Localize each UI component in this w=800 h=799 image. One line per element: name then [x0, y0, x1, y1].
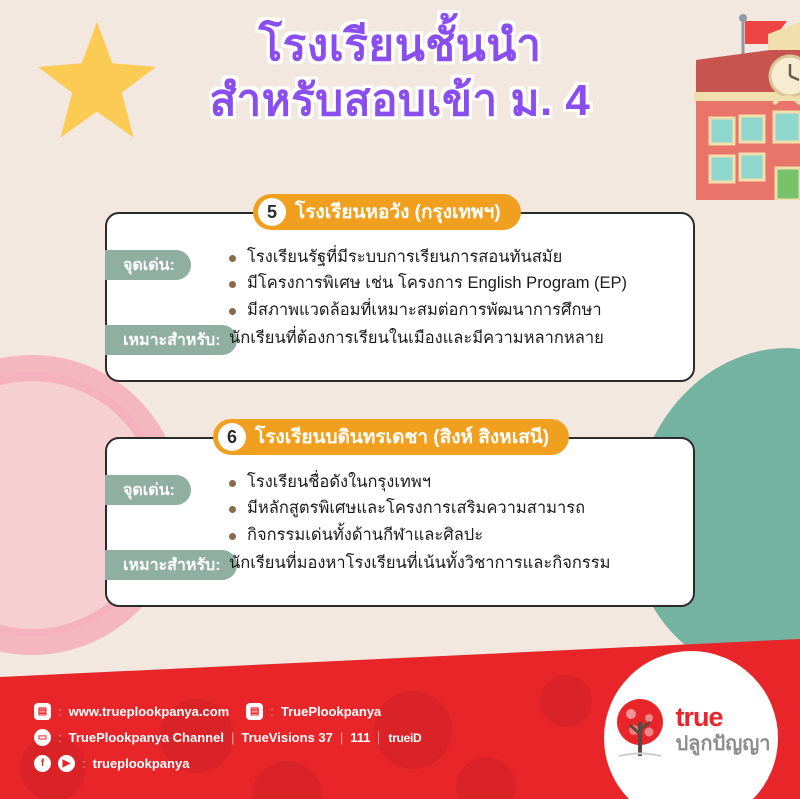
- highlight-bullet-list: โรงเรียนชื่อดังในกรุงเทพฯ มีหลักสูตรพิเศ…: [229, 471, 585, 550]
- bullet-dot-icon: [229, 506, 236, 513]
- contact-info: ▤ : www.trueplookpanya.com ▤ : TruePlook…: [34, 703, 421, 781]
- page-name[interactable]: TruePlookpanya: [281, 704, 381, 719]
- website-url[interactable]: www.trueplookpanya.com: [69, 704, 230, 719]
- bullet-dot-icon: [229, 281, 236, 288]
- list-item: มีสภาพแวดล้อมที่เหมาะสมต่อการพัฒนาการศึก…: [229, 299, 627, 322]
- page-title: โรงเรียนชั้นนำ สำหรับสอบเข้า ม. 4: [0, 18, 800, 128]
- title-line-1: โรงเรียนชั้นนำ: [258, 21, 541, 70]
- card-header-pill: 5 โรงเรียนหอวัง (กรุงเทพฯ): [253, 194, 521, 230]
- watermark-circle: [540, 675, 592, 727]
- suited-label-tag: เหมาะสำหรับ:: [105, 325, 237, 355]
- watermark-circle: [456, 757, 516, 799]
- book-icon: ▤: [34, 703, 51, 720]
- page-icon: ▤: [246, 703, 263, 720]
- facebook-icon[interactable]: f: [34, 755, 51, 772]
- contact-row-social: f ▶ : trueplookpanya: [34, 755, 421, 772]
- bullet-dot-icon: [229, 533, 236, 540]
- bullet-text: กิจกรรมเด่นทั้งด้านกีฬาและศิลปะ: [247, 524, 483, 547]
- bullet-dot-icon: [229, 480, 236, 487]
- school-name: โรงเรียนบดินทรเดชา (สิงห์ สิงหเสนี): [255, 422, 549, 452]
- logo-brand-text: true: [675, 704, 770, 731]
- channel-name[interactable]: TruePlookpanya Channel: [69, 730, 224, 745]
- logo-thai-text: ปลูกปัญญา: [675, 734, 770, 754]
- colon-separator: :: [58, 704, 62, 719]
- school-card: จุดเด่น: โรงเรียนชื่อดังในกรุงเทพฯ มีหลั…: [105, 437, 695, 607]
- bullet-dot-icon: [229, 255, 236, 262]
- tv-icon: ▭: [34, 729, 51, 746]
- school-name: โรงเรียนหอวัง (กรุงเทพฯ): [295, 197, 501, 227]
- list-item: โรงเรียนรัฐที่มีระบบการเรียนการสอนทันสมั…: [229, 246, 627, 269]
- card-number-badge: 5: [258, 198, 286, 226]
- list-item: มีโครงการพิเศษ เช่น โครงการ English Prog…: [229, 272, 627, 295]
- footer-band: ▤ : www.trueplookpanya.com ▤ : TruePlook…: [0, 639, 800, 799]
- card-header-pill: 6 โรงเรียนบดินทรเดชา (สิงห์ สิงหเสนี): [213, 419, 569, 455]
- school-card: จุดเด่น: โรงเรียนรัฐที่มีระบบการเรียนการ…: [105, 212, 695, 382]
- tree-logo-icon: [611, 698, 669, 760]
- infographic-canvas: โรงเรียนชั้นนำ สำหรับสอบเข้า ม. 4 จุดเด่…: [0, 0, 800, 799]
- bullet-text: โรงเรียนชื่อดังในกรุงเทพฯ: [247, 471, 431, 494]
- youtube-icon[interactable]: ▶: [58, 755, 75, 772]
- trueid-badge[interactable]: trueiD: [378, 731, 422, 745]
- contact-row-channel: ▭ : TruePlookpanya Channel | TrueVisions…: [34, 729, 421, 746]
- suited-label-tag: เหมาะสำหรับ:: [105, 550, 237, 580]
- card-number-badge: 6: [218, 423, 246, 451]
- colon-separator: :: [58, 730, 62, 745]
- highlight-label-tag: จุดเด่น:: [105, 475, 191, 505]
- suited-text: นักเรียนที่มองหาโรงเรียนที่เน้นทั้งวิชาก…: [229, 552, 611, 575]
- bullet-text: โรงเรียนรัฐที่มีระบบการเรียนการสอนทันสมั…: [247, 246, 562, 269]
- social-handle[interactable]: trueplookpanya: [93, 756, 190, 771]
- title-line-2: สำหรับสอบเข้า ม. 4: [0, 73, 800, 128]
- highlight-bullet-list: โรงเรียนรัฐที่มีระบบการเรียนการสอนทันสมั…: [229, 246, 627, 325]
- list-item: กิจกรรมเด่นทั้งด้านกีฬาและศิลปะ: [229, 524, 585, 547]
- divider: |: [231, 730, 234, 745]
- brand-logo: true ปลูกปัญญา: [604, 651, 778, 799]
- bullet-text: มีโครงการพิเศษ เช่น โครงการ English Prog…: [247, 272, 627, 295]
- bullet-text: มีสภาพแวดล้อมที่เหมาะสมต่อการพัฒนาการศึก…: [247, 299, 602, 322]
- contact-row-website: ▤ : www.trueplookpanya.com ▤ : TruePlook…: [34, 703, 421, 720]
- tv-channel: TrueVisions 37: [241, 730, 333, 745]
- bullet-text: มีหลักสูตรพิเศษและโครงการเสริมความสามารถ: [247, 497, 585, 520]
- colon-separator: :: [270, 704, 274, 719]
- bullet-dot-icon: [229, 308, 236, 315]
- highlight-label-tag: จุดเด่น:: [105, 250, 191, 280]
- channel-number: 111: [350, 730, 370, 745]
- suited-text: นักเรียนที่ต้องการเรียนในเมืองและมีความห…: [229, 327, 604, 350]
- list-item: โรงเรียนชื่อดังในกรุงเทพฯ: [229, 471, 585, 494]
- divider: |: [340, 730, 343, 745]
- list-item: มีหลักสูตรพิเศษและโครงการเสริมความสามารถ: [229, 497, 585, 520]
- colon-separator: :: [82, 756, 86, 771]
